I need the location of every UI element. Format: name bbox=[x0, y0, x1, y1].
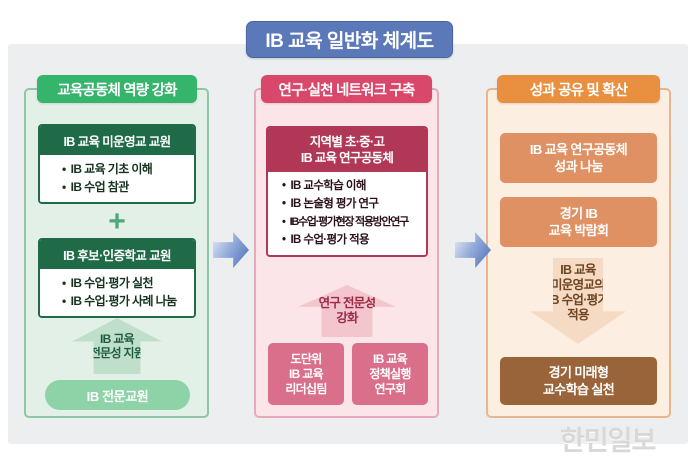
green-card-2-body: IB 수업·평가 실천 IB 수업·평가 사례 나눔 bbox=[40, 269, 194, 316]
green-card-1-body: IB 교육 기초 이해 IB 수업 참관 bbox=[40, 155, 194, 202]
green-card-2-title: IB 후보·인증학교 교원 bbox=[40, 240, 194, 269]
bullet-item: IB 수업 참관 bbox=[40, 178, 194, 196]
column-header-orange: 성과 공유 및 확산 bbox=[497, 75, 660, 103]
watermark-logo: 한민일보 bbox=[560, 419, 655, 458]
arrow-text-line: 연구 전문성 bbox=[319, 296, 376, 311]
pink-bottom-box-policy: IB 교육 정책실행 연구회 bbox=[352, 343, 428, 405]
box-text-line: 연구회 bbox=[369, 382, 410, 397]
pink-bottom-box-leadership: 도단위 IB 교육 리더십팀 bbox=[268, 343, 344, 405]
box-text-line: 리더십팀 bbox=[285, 382, 326, 397]
pink-title-line-1: 지역별 초·중·고 bbox=[268, 134, 426, 150]
bullet-item: IB수업·평가현장 적용방안연구 bbox=[268, 213, 426, 231]
box-text-line: 정책실행 bbox=[369, 367, 410, 382]
green-pill-specialist: IB 전문교원 bbox=[45, 380, 190, 410]
box-text-line: 교수학습 실천 bbox=[543, 381, 614, 398]
orange-box-share: IB 교육 연구공동체 성과 나눔 bbox=[500, 133, 657, 183]
bullet-item: IB 교수학습 이해 bbox=[268, 177, 426, 195]
bullet-item: IB 수업·평가 적용 bbox=[268, 231, 426, 249]
page-title: IB 교육 일반화 체계도 bbox=[246, 21, 453, 58]
arrow-text-line: 미운영교의 bbox=[551, 278, 605, 293]
pink-card-1-body: IB 교수학습 이해 IB 논술형 평가 연구 IB수업·평가현장 적용방안연구… bbox=[268, 172, 426, 255]
pink-title-line-2: IB 교육 연구공동체 bbox=[268, 150, 426, 166]
box-text-line: IB 교육 연구공동체 bbox=[530, 141, 627, 158]
arrow-text-line: 적용 bbox=[567, 308, 589, 323]
pink-card-1: 지역별 초·중·고 IB 교육 연구공동체 IB 교수학습 이해 IB 논술형 … bbox=[266, 126, 428, 257]
box-text-line: 경기 IB bbox=[549, 205, 609, 222]
arrow-text-line: IB 교육 bbox=[100, 332, 134, 346]
orange-box-expo: 경기 IB 교육 박람회 bbox=[500, 197, 657, 247]
bullet-item: IB 논술형 평가 연구 bbox=[268, 195, 426, 213]
bullet-item: IB 교육 기초 이해 bbox=[40, 160, 194, 178]
box-text-line: 성과 나눔 bbox=[530, 158, 627, 175]
box-text-line: 교육 박람회 bbox=[549, 222, 609, 239]
box-text-line: 도단위 bbox=[285, 352, 326, 367]
green-card-1: IB 교육 미운영교 교원 IB 교육 기초 이해 IB 수업 참관 bbox=[38, 124, 196, 204]
box-text-line: IB 교육 bbox=[369, 352, 410, 367]
plus-icon: + bbox=[104, 209, 130, 235]
box-text-line: 경기 미래형 bbox=[543, 364, 614, 381]
arrow-text-line: 강화 bbox=[336, 311, 358, 326]
green-card-2: IB 후보·인증학교 교원 IB 수업·평가 실천 IB 수업·평가 사례 나눔 bbox=[38, 238, 196, 318]
arrow-text-line: 전문성 지원 bbox=[90, 346, 144, 360]
green-card-1-title: IB 교육 미운영교 교원 bbox=[40, 126, 194, 155]
column-header-green: 교육공동체 역량 강화 bbox=[37, 75, 197, 103]
bullet-item: IB 수업·평가 실천 bbox=[40, 274, 194, 292]
box-text-line: IB 교육 bbox=[285, 367, 326, 382]
arrow-text-line: IB 교육 bbox=[560, 263, 595, 278]
diagram-canvas: IB 교육 일반화 체계도 교육공동체 역량 강화 연구·실천 네트워크 구축 … bbox=[0, 0, 696, 461]
pink-card-1-title: 지역별 초·중·고 IB 교육 연구공동체 bbox=[268, 128, 426, 172]
arrow-text-line: IB 수업·평가 bbox=[548, 293, 609, 308]
bullet-item: IB 수업·평가 사례 나눔 bbox=[40, 292, 194, 310]
column-header-pink: 연구·실천 네트워크 구축 bbox=[261, 75, 432, 103]
orange-box-practice: 경기 미래형 교수학습 실천 bbox=[500, 357, 657, 405]
